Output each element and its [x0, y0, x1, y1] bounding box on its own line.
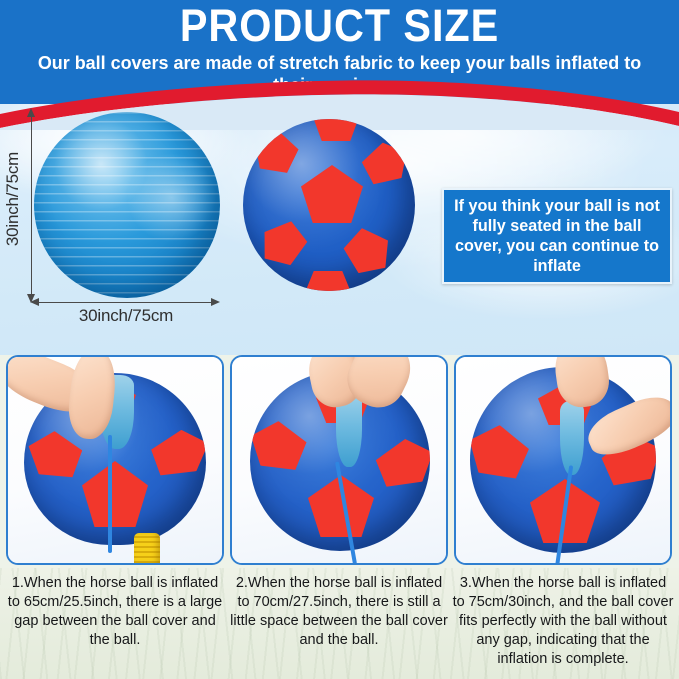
- arrow-right-icon: [211, 298, 220, 306]
- arrow-left-icon: [30, 298, 39, 306]
- inflate-callout-box: If you think your ball is not fully seat…: [442, 188, 672, 284]
- step-panels: [0, 352, 679, 568]
- product-size-infographic: PRODUCT SIZE Our ball covers are made of…: [0, 0, 679, 679]
- soccer-ball-cover: [243, 119, 415, 291]
- ball-patch: [148, 423, 206, 483]
- step-panel-3: [454, 355, 672, 565]
- ball-patch: [301, 165, 363, 223]
- step-caption-2: 2.When the horse ball is inflated to 70c…: [228, 574, 450, 650]
- ball-patch: [246, 124, 302, 180]
- step-captions: 1.When the horse ball is inflated to 65c…: [0, 568, 679, 679]
- ball-patch: [338, 222, 400, 284]
- step-panel-2: [230, 355, 448, 565]
- vertical-dimension-label: 30inch/75cm: [3, 124, 23, 274]
- cover-opening: [560, 401, 584, 475]
- step-panel-1: [6, 355, 224, 565]
- air-pump: [134, 533, 160, 563]
- size-section: 30inch/75cm 30inch/75cm If you think you…: [0, 104, 679, 352]
- step-caption-3: 3.When the horse ball is inflated to 75c…: [452, 574, 674, 669]
- vertical-dimension-line: [31, 114, 32, 298]
- page-title: PRODUCT SIZE: [27, 2, 652, 50]
- ball-patch: [82, 461, 148, 527]
- ball-patch: [313, 119, 359, 141]
- exercise-ball: [34, 112, 220, 298]
- ball-patch: [305, 271, 351, 291]
- ball-patch: [250, 414, 310, 479]
- inflation-hose: [108, 435, 112, 553]
- step-photo-2: [232, 357, 446, 563]
- ball-patch: [470, 416, 533, 487]
- step-caption-1: 1.When the horse ball is inflated to 65c…: [4, 574, 226, 650]
- horizontal-dimension-line: [36, 302, 216, 303]
- ball-patch: [372, 431, 430, 495]
- step-photo-3: [456, 357, 670, 563]
- ball-patch: [252, 215, 313, 275]
- callout-text: If you think your ball is not fully seat…: [446, 196, 667, 276]
- step-photo-1: [8, 357, 222, 563]
- horizontal-dimension-label: 30inch/75cm: [26, 306, 226, 326]
- arrow-up-icon: [27, 108, 35, 117]
- ball-patch: [358, 135, 415, 191]
